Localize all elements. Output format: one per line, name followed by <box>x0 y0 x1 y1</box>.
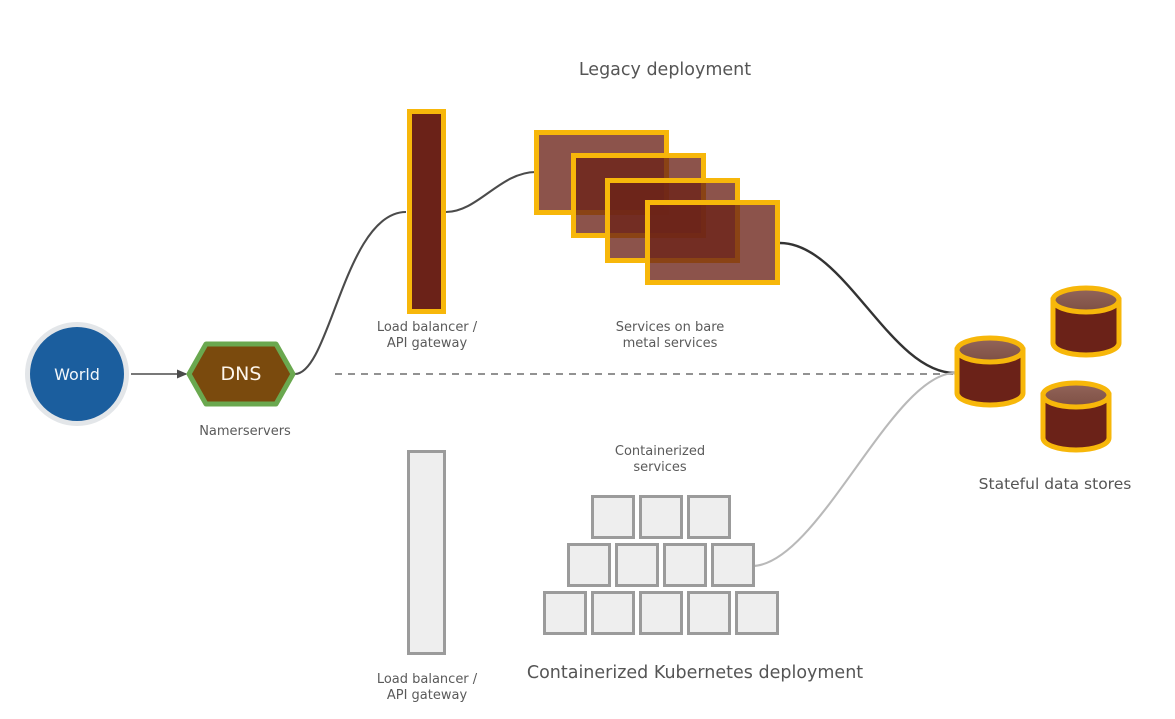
edge-containers-to-datastore <box>752 373 955 566</box>
container-box[interactable] <box>591 591 635 635</box>
container-box[interactable] <box>543 591 587 635</box>
services-legacy-caption: Services on bare metal services <box>580 320 760 353</box>
diagram-canvas <box>0 0 1175 719</box>
container-box[interactable] <box>639 495 683 539</box>
node-load-balancer-k8s[interactable] <box>407 450 446 655</box>
container-box[interactable] <box>567 543 611 587</box>
container-box[interactable] <box>663 543 707 587</box>
container-box[interactable] <box>639 591 683 635</box>
node-load-balancer-legacy[interactable] <box>407 109 446 314</box>
container-box[interactable] <box>687 591 731 635</box>
service-rect-4[interactable] <box>645 200 780 285</box>
datastore-cylinder-2[interactable] <box>1053 288 1119 355</box>
edge-services-to-datastore <box>780 243 955 373</box>
containerized-services-caption: Containerized services <box>580 444 740 477</box>
edge-lb-to-services <box>446 172 536 212</box>
container-box[interactable] <box>711 543 755 587</box>
node-world[interactable]: World <box>25 322 129 426</box>
kubernetes-deployment-title: Containerized Kubernetes deployment <box>520 663 870 685</box>
node-dns[interactable]: DNS <box>189 343 293 405</box>
container-box[interactable] <box>591 495 635 539</box>
lb-k8s-caption: Load balancer / API gateway <box>347 672 507 705</box>
container-box[interactable] <box>687 495 731 539</box>
node-dns-label: DNS <box>189 343 293 405</box>
container-box[interactable] <box>615 543 659 587</box>
lb-legacy-caption: Load balancer / API gateway <box>347 320 507 353</box>
datastores-caption: Stateful data stores <box>950 475 1160 494</box>
node-world-label: World <box>54 365 100 384</box>
container-box[interactable] <box>735 591 779 635</box>
node-dns-caption: Namerservers <box>165 424 325 440</box>
datastore-cylinder-3[interactable] <box>1043 383 1109 450</box>
datastore-cylinder-1[interactable] <box>957 338 1023 405</box>
legacy-deployment-title: Legacy deployment <box>505 60 825 82</box>
